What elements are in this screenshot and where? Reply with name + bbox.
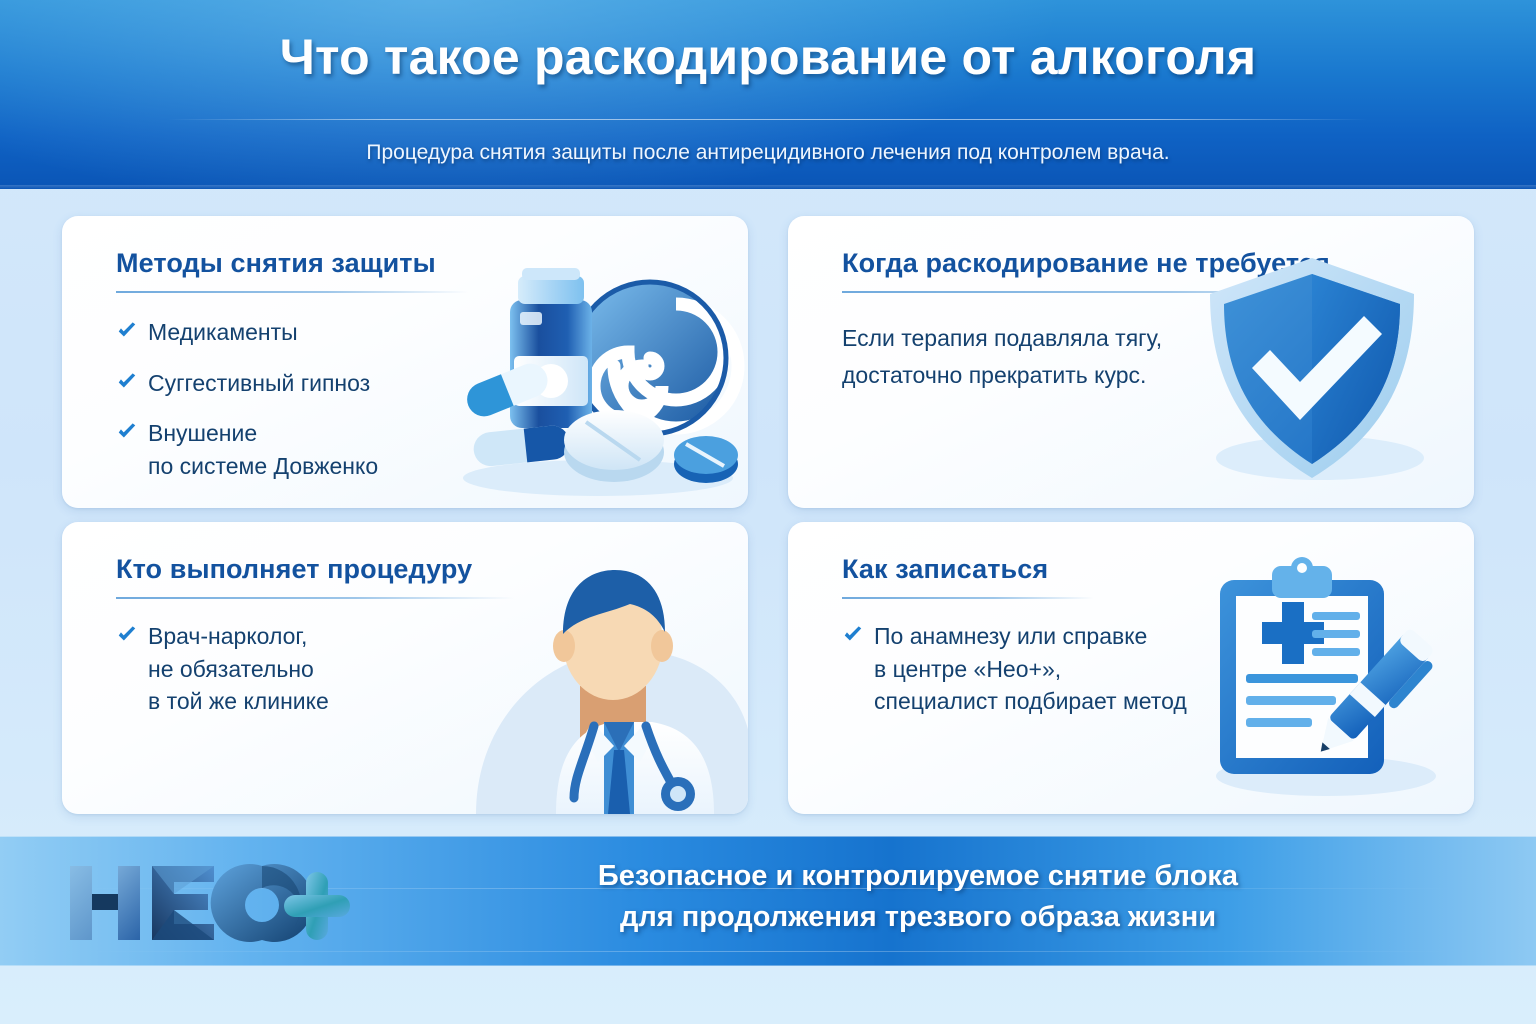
list-item-label: Врач-нарколог, не обязательно в той же к…: [148, 620, 329, 718]
check-icon: [116, 371, 138, 393]
infographic-poster: Что такое раскодирование от алкоголя Про…: [0, 0, 1536, 1024]
doctor-illustration: [452, 546, 748, 814]
list-item-label: По анамнезу или справке в центре «Нео+»,…: [874, 620, 1187, 718]
footer-band: Безопасное и контролируемое снятие блока…: [0, 836, 1536, 966]
list-item: Суггестивный гипноз: [116, 367, 498, 400]
logo-letter-en: [70, 866, 140, 940]
card-title: Как записаться: [842, 554, 1048, 585]
page-subtitle: Процедура снятия защиты после антирециди…: [0, 141, 1536, 165]
logo-letter-ye: [152, 866, 214, 940]
card-title-underline: [842, 597, 1094, 599]
card-title: Методы снятия защиты: [116, 248, 436, 279]
check-icon: [116, 320, 138, 342]
check-icon: [116, 624, 138, 646]
card-not-required: Когда раскодирование не требуется Если т…: [788, 216, 1474, 508]
pills-and-spiral-illustration: [448, 240, 748, 508]
footer-divider-bottom: [80, 951, 1456, 952]
list-item: Врач-нарколог, не обязательно в той же к…: [116, 620, 498, 718]
check-icon: [842, 624, 864, 646]
neo-plus-logo: [62, 854, 352, 950]
card-who-performs: Кто выполняет процедуру Врач-нарколог, н…: [62, 522, 748, 814]
bullet-list: Медикаменты Суггестивный гипноз Внушение…: [116, 316, 498, 501]
card-grid: Методы снятия защиты Медикаменты Суггест…: [62, 216, 1474, 814]
page-title: Что такое раскодирование от алкоголя: [0, 28, 1536, 86]
check-icon: [116, 421, 138, 443]
list-item-label: Суггестивный гипноз: [148, 367, 370, 400]
list-item-label: Внушение по системе Довженко: [148, 417, 378, 482]
card-title-underline: [116, 291, 468, 293]
list-item-label: Медикаменты: [148, 316, 298, 349]
card-body-text: Если терапия подавляла тягу, достаточно …: [842, 320, 1224, 395]
card-methods: Методы снятия защиты Медикаменты Суггест…: [62, 216, 748, 508]
list-item: Внушение по системе Довженко: [116, 417, 498, 482]
card-title: Кто выполняет процедуру: [116, 554, 472, 585]
bullet-list: Врач-нарколог, не обязательно в той же к…: [116, 620, 498, 736]
list-item: Медикаменты: [116, 316, 498, 349]
header-divider: [168, 119, 1368, 120]
card-how-to-book: Как записаться По анамнезу или справке в…: [788, 522, 1474, 814]
shield-with-check-illustration: [1182, 242, 1452, 500]
clipboard-and-pen-illustration: [1184, 550, 1454, 808]
footer-tagline: Безопасное и контролируемое снятие блока…: [360, 856, 1476, 938]
header-band: Что такое раскодирование от алкоголя Про…: [0, 0, 1536, 189]
